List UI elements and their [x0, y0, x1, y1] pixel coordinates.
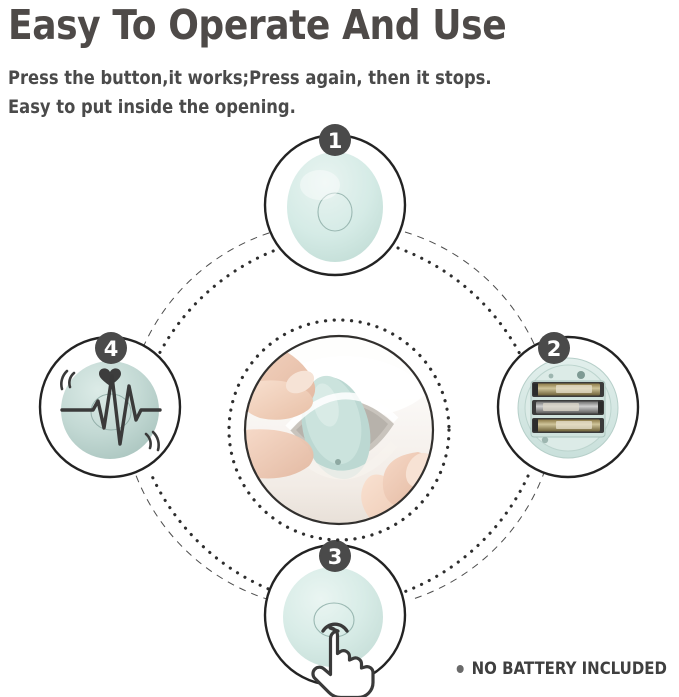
- egg-device-icon: [287, 152, 383, 262]
- step-2-badge: 2: [538, 332, 570, 364]
- step-4-number: 4: [104, 337, 119, 361]
- step-3-badge: 3: [319, 540, 351, 572]
- infographic-page: Easy To Operate And Use Press the button…: [0, 0, 679, 697]
- steps-diagram: 1: [0, 0, 679, 697]
- hand-press-icon: [283, 567, 383, 697]
- step-2-circle[interactable]: [498, 337, 638, 477]
- step-4-badge: 4: [95, 332, 127, 364]
- bullet-dot-icon: [457, 665, 464, 673]
- step-1-number: 1: [328, 129, 343, 153]
- no-battery-label: NO BATTERY INCLUDED: [472, 659, 667, 679]
- step-2-number: 2: [547, 337, 562, 361]
- step-1-badge: 1: [319, 124, 351, 156]
- no-battery-note: NO BATTERY INCLUDED: [457, 659, 667, 679]
- step-3-number: 3: [328, 545, 343, 569]
- battery-compartment-icon: [518, 358, 618, 458]
